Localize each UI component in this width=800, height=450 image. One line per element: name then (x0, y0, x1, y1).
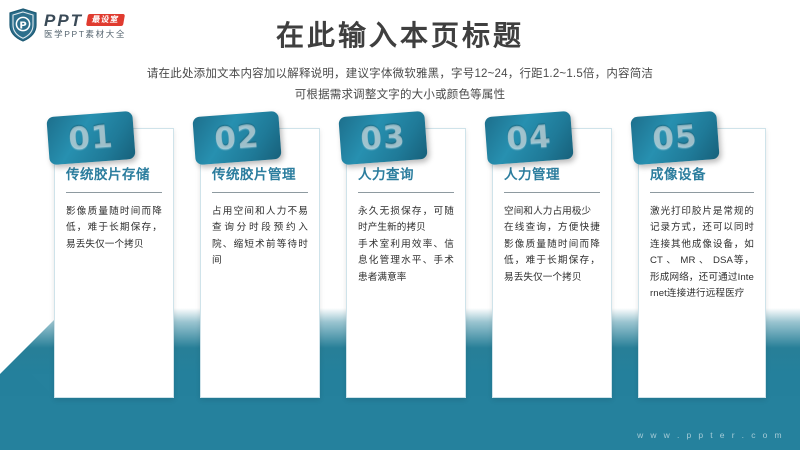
card-divider (650, 192, 754, 193)
card-body-text: 空间和人力占用极少在线查询，方便快捷影像质量随时间而降低，难于长期保存，易丢失仅… (504, 204, 600, 287)
card-title: 成像设备 (650, 167, 754, 184)
card-number-badge[interactable]: 05 (630, 111, 719, 165)
card-body-text: 影像质量随时间而降低，难于长期保存，易丢失仅一个拷贝 (66, 204, 162, 254)
card-number-label: 01 (46, 111, 135, 165)
card-item[interactable]: 传统胶片管理 占用空间和人力不易查询分时段预约入院、缩短术前等待时间 (200, 128, 320, 398)
card-number-label: 03 (338, 111, 427, 165)
card-list: 传统胶片存储 影像质量随时间而降低，难于长期保存，易丢失仅一个拷贝 传统胶片管理… (0, 0, 800, 450)
card-divider (358, 192, 454, 193)
card-number-label: 02 (192, 111, 281, 165)
card-body-text: 占用空间和人力不易查询分时段预约入院、缩短术前等待时间 (212, 204, 308, 270)
card-title: 人力管理 (504, 167, 600, 184)
card-item[interactable]: 人力查询 永久无损保存，可随时产生新的拷贝手术室利用效率、信息化管理水平、手术患… (346, 128, 466, 398)
card-number-badge[interactable]: 02 (192, 111, 281, 165)
card-title: 传统胶片存储 (66, 167, 162, 184)
card-body-text: 永久无损保存，可随时产生新的拷贝手术室利用效率、信息化管理水平、手术患者满意率 (358, 204, 454, 287)
card-body-text: 激光打印胶片是常规的记录方式，还可以同时连接其他成像设备，如 CT 、 MR 、… (650, 204, 754, 303)
card-divider (504, 192, 600, 193)
footer-watermark: w w w . p p t e r . c o m (637, 430, 784, 440)
slide-canvas: P PPT 最设室 医学PPT素材大全 在此输入本页标题 请在此处添加文本内容加… (0, 0, 800, 450)
card-number-badge[interactable]: 04 (484, 111, 573, 165)
card-item[interactable]: 传统胶片存储 影像质量随时间而降低，难于长期保存，易丢失仅一个拷贝 (54, 128, 174, 398)
card-number-label: 05 (630, 111, 719, 165)
card-item[interactable]: 成像设备 激光打印胶片是常规的记录方式，还可以同时连接其他成像设备，如 CT 、… (638, 128, 766, 398)
card-number-badge[interactable]: 03 (338, 111, 427, 165)
card-number-badge[interactable]: 01 (46, 111, 135, 165)
card-title: 人力查询 (358, 167, 454, 184)
card-title: 传统胶片管理 (212, 167, 308, 184)
card-divider (212, 192, 308, 193)
card-divider (66, 192, 162, 193)
card-item[interactable]: 人力管理 空间和人力占用极少在线查询，方便快捷影像质量随时间而降低，难于长期保存… (492, 128, 612, 398)
card-number-label: 04 (484, 111, 573, 165)
